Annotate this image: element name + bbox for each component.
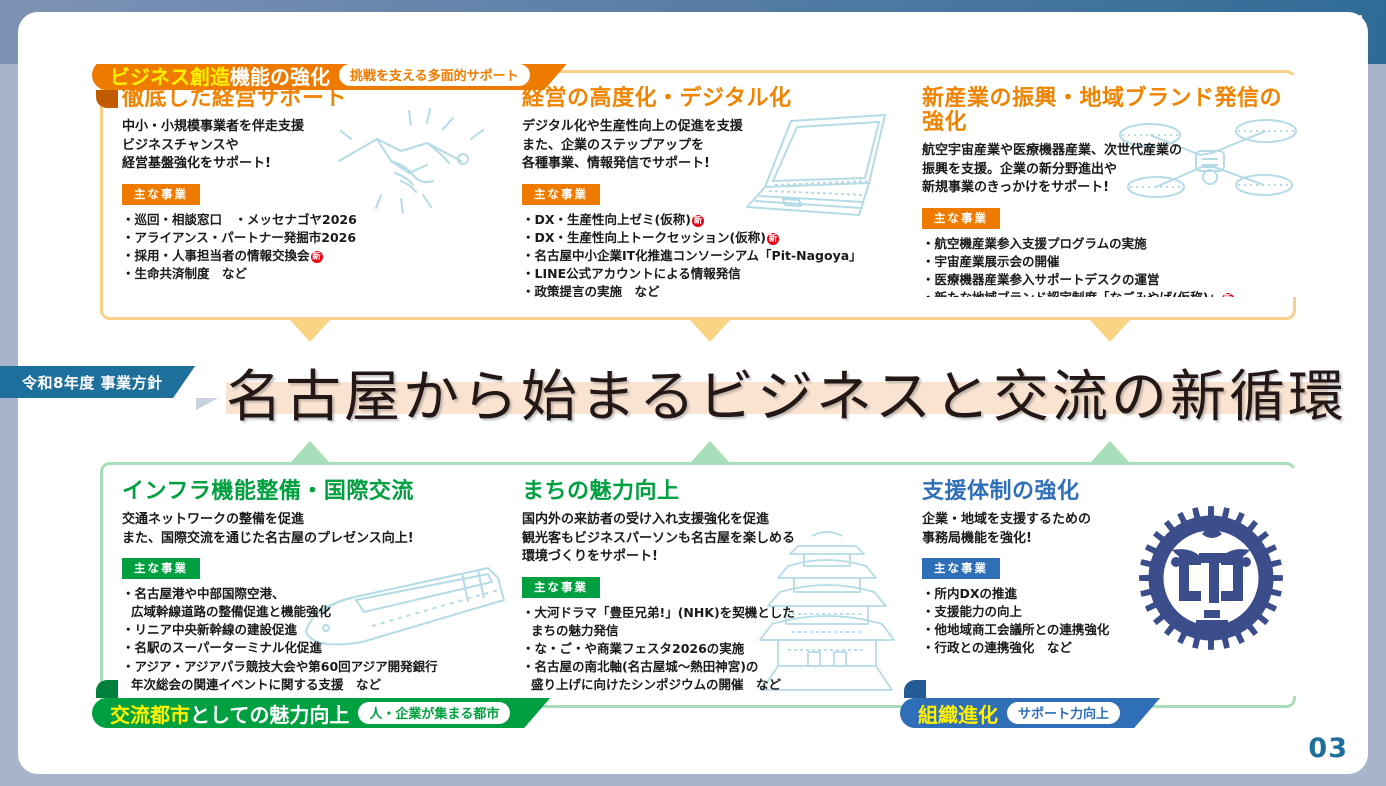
project-list-item: ・名駅のスーパーターミナル化促進 <box>122 639 494 657</box>
project-list-item: ・巡回・相談窓口 ・メッセナゴヤ2026 <box>122 211 494 229</box>
card-title: インフラ機能整備・国際交流 <box>122 480 494 504</box>
initiative-card: 支援体制の強化企業・地域を支援するための事務局機能を強化!主な事業・所内DXの推… <box>908 468 1308 696</box>
card-title: 経営の高度化・デジタル化 <box>522 87 894 111</box>
main-projects-tag: 主な事業 <box>122 558 200 579</box>
arrow-down-1 <box>290 320 330 342</box>
project-list: ・所内DXの推進・支援能力の向上・他地域商工会議所との連携強化・行政との連携強化… <box>922 585 1294 658</box>
project-list-item: ・宇宙産業展示会の開催 <box>922 253 1294 271</box>
card-lead: 中小・小規模事業者を伴走支援ビジネスチャンスや経営基盤強化をサポート! <box>122 118 494 173</box>
header-sheet-mask <box>18 12 1368 64</box>
card-lead: 国内外の来訪者の受け入れ支援強化を促進観光客もビジネスパーソンも名古屋を楽しめる… <box>522 511 894 566</box>
banner-body: 交流都市 としての魅力向上 人・企業が集まる都市 <box>92 698 524 728</box>
banner-fold <box>904 680 926 698</box>
project-list-item: ・医療機器産業参入サポートデスクの運営 <box>922 271 1294 289</box>
banner-accent-text: 交流都市 <box>110 699 190 728</box>
top-card-row: 徹底した経営サポート中小・小規模事業者を伴走支援ビジネスチャンスや経営基盤強化を… <box>108 75 1308 297</box>
card-title: 徹底した経営サポート <box>122 87 494 111</box>
brand-name-jp: 名古屋商工会議所 <box>1204 16 1364 35</box>
new-badge-icon: 新 <box>692 215 704 227</box>
initiative-card: インフラ機能整備・国際交流交通ネットワークの整備を促進また、国際交流を通じた名古… <box>108 468 508 696</box>
initiative-card: まちの魅力向上国内外の来訪者の受け入れ支援強化を促進観光客もビジネスパーソンも名… <box>508 468 908 696</box>
brand-logo: 商 名古屋商工会議所 Nagoya Chamber of Commerce & … <box>1171 16 1364 45</box>
banner-pill-label: 挑戦を支える多面的サポート <box>339 64 530 86</box>
project-list-item: ・名古屋港や中部国際空港、 <box>122 585 494 603</box>
policy-year-flag: 令和8年度 事業方針 <box>0 366 195 398</box>
project-list-item: ・他地域商工会議所との連携強化 <box>922 621 1294 639</box>
project-list-item: 広域幹線道路の整備促進と機能強化 <box>122 603 494 621</box>
banner-pill-label: 人・企業が集まる都市 <box>358 702 510 724</box>
card-title: 支援体制の強化 <box>922 480 1294 504</box>
banner-rest-text: としての魅力向上 <box>190 699 349 728</box>
new-badge-icon: 新 <box>767 233 779 245</box>
project-list-item: まちの魅力発信 <box>522 622 894 640</box>
project-list-item: ・アジア・アジアパラ競技大会や第60回アジア開発銀行 <box>122 658 494 676</box>
bottom-card-row: インフラ機能整備・国際交流交通ネットワークの整備を促進また、国際交流を通じた名古… <box>108 468 1308 696</box>
banner-business-creation: ビジネス創造 機能の強化 挑戦を支える多面的サポート <box>92 60 570 90</box>
project-list-item: ・LINE公式アカウントによる情報発信 <box>522 265 894 283</box>
card-title: まちの魅力向上 <box>522 480 894 504</box>
project-list-item: 年次総会の関連イベントに関する支援 など <box>122 676 494 694</box>
project-list-item: ・DX・生産性向上ゼミ(仮称)新 <box>522 211 894 229</box>
initiative-card: 経営の高度化・デジタル化デジタル化や生産性向上の促進を支援また、企業のステップア… <box>508 75 908 297</box>
project-list-item: ・航空機産業参入支援プログラムの実施 <box>922 235 1294 253</box>
project-list-item: ・所内DXの推進 <box>922 585 1294 603</box>
project-list-item: ・アライアンス・パートナー発掘市2026 <box>122 229 494 247</box>
banner-fold <box>96 680 118 698</box>
banner-fold <box>96 90 118 108</box>
main-projects-tag: 主な事業 <box>922 208 1000 229</box>
banner-rest-text: 機能の強化 <box>230 61 330 90</box>
initiative-card: 徹底した経営サポート中小・小規模事業者を伴走支援ビジネスチャンスや経営基盤強化を… <box>108 75 508 297</box>
arrow-down-2 <box>690 320 730 342</box>
card-lead: 航空宇宙産業や医療機器産業、次世代産業の振興を支援。企業の新分野進出や新規事業の… <box>922 142 1294 197</box>
project-list-item: ・リニア中央新幹線の建設促進 <box>122 621 494 639</box>
card-title: 新産業の振興・地域ブランド発信の強化 <box>922 87 1294 135</box>
project-list-item: 盛り上げに向けたシンポジウムの開催 など <box>522 676 894 694</box>
main-projects-tag: 主な事業 <box>522 184 600 205</box>
banner-pill-label: サポート力向上 <box>1007 702 1120 724</box>
banner-tip <box>544 60 570 90</box>
arrow-up-2 <box>691 441 729 462</box>
svg-text:商: 商 <box>1181 26 1188 35</box>
project-list-item: ・行政との連携強化 など <box>922 639 1294 657</box>
card-lead: 企業・地域を支援するための事務局機能を強化! <box>922 511 1294 548</box>
project-list-item: ・新たな地域ブランド認定制度「なごみやげ(仮称)」新 <box>922 289 1294 297</box>
policy-flag-shadow <box>196 398 218 410</box>
project-list-item: ・大河ドラマ「豊臣兄弟!」(NHK)を契機とした <box>522 604 894 622</box>
project-list: ・巡回・相談窓口 ・メッセナゴヤ2026・アライアンス・パートナー発掘市2026… <box>122 211 494 284</box>
banner-body: 組織進化 サポート力向上 <box>900 698 1134 728</box>
gear-emblem-icon: 商 <box>1171 17 1197 43</box>
project-list: ・名古屋港や中部国際空港、広域幹線道路の整備促進と機能強化・リニア中央新幹線の建… <box>122 585 494 694</box>
arrow-up-3 <box>1091 441 1129 462</box>
project-list-item: ・な・ご・や商業フェスタ2026の実施 <box>522 640 894 658</box>
project-list: ・大河ドラマ「豊臣兄弟!」(NHK)を契機としたまちの魅力発信・な・ご・や商業フ… <box>522 604 894 695</box>
main-projects-tag: 主な事業 <box>522 577 600 598</box>
page-number: 03 <box>1308 733 1348 764</box>
project-list-item: ・採用・人事担当者の情報交換会新 <box>122 247 494 265</box>
policy-year-label: 令和8年度 事業方針 <box>0 366 173 398</box>
new-badge-icon: 新 <box>311 251 323 263</box>
main-projects-tag: 主な事業 <box>922 558 1000 579</box>
project-list: ・航空機産業参入支援プログラムの実施・宇宙産業展示会の開催・医療機器産業参入サポ… <box>922 235 1294 297</box>
headline-block: 名古屋から始まるビジネスと交流の新循環 <box>226 352 1336 418</box>
card-lead: デジタル化や生産性向上の促進を支援また、企業のステップアップを各種事業、情報発信… <box>522 118 894 173</box>
arrow-down-3 <box>1090 320 1130 342</box>
project-list-item: ・名古屋中小企業IT化推進コンソーシアム「Pit-Nagoya」 <box>522 247 894 265</box>
banner-organization-evolution: 組織進化 サポート力向上 <box>900 698 1160 728</box>
banner-body: ビジネス創造 機能の強化 挑戦を支える多面的サポート <box>92 60 544 90</box>
project-list-item: ・政策提言の実施 など <box>522 283 894 297</box>
project-list-item: ・支援能力の向上 <box>922 603 1294 621</box>
arrow-up-1 <box>291 441 329 462</box>
project-list-item: ・名古屋の南北軸(名古屋城〜熱田神宮)の <box>522 658 894 676</box>
banner-tip <box>524 698 550 728</box>
banner-accent-text: ビジネス創造 <box>110 61 230 90</box>
banner-exchange-city: 交流都市 としての魅力向上 人・企業が集まる都市 <box>92 698 550 728</box>
banner-accent-text: 組織進化 <box>918 699 998 728</box>
main-projects-tag: 主な事業 <box>122 184 200 205</box>
headline-text: 名古屋から始まるビジネスと交流の新循環 <box>226 352 1336 433</box>
banner-tip <box>1134 698 1160 728</box>
brand-name-en: Nagoya Chamber of Commerce & Industry <box>1204 38 1364 45</box>
initiative-card: 新産業の振興・地域ブランド発信の強化航空宇宙産業や医療機器産業、次世代産業の振興… <box>908 75 1308 297</box>
project-list: ・DX・生産性向上ゼミ(仮称)新・DX・生産性向上トークセッション(仮称)新・名… <box>522 211 894 297</box>
card-lead: 交通ネットワークの整備を促進また、国際交流を通じた名古屋のプレゼンス向上! <box>122 511 494 548</box>
project-list-item: ・生命共済制度 など <box>122 265 494 283</box>
new-badge-icon: 新 <box>1222 293 1234 297</box>
policy-flag-tip <box>173 366 195 398</box>
brand-text: 名古屋商工会議所 Nagoya Chamber of Commerce & In… <box>1204 16 1364 45</box>
project-list-item: ・DX・生産性向上トークセッション(仮称)新 <box>522 229 894 247</box>
